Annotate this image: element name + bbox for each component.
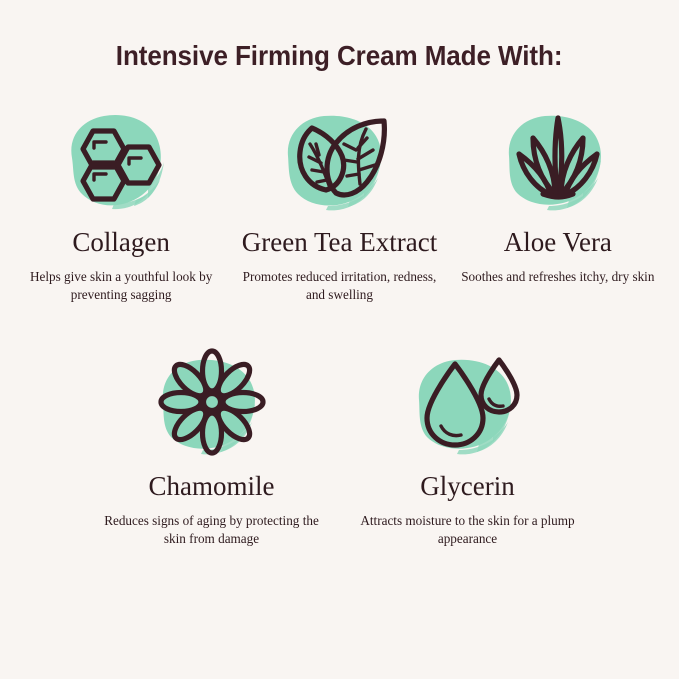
ingredient-title: Glycerin bbox=[420, 472, 514, 502]
ingredient-row-top: Collagen Helps give skin a youthful look… bbox=[0, 100, 679, 304]
ingredient-row-bottom: Chamomile Reduces signs of aging by prot… bbox=[0, 344, 679, 548]
ingredient-description: Promotes reduced irritation, redness, an… bbox=[232, 268, 447, 304]
ingredient-description: Reduces signs of aging by protecting the… bbox=[96, 512, 328, 548]
ingredient-title: Green Tea Extract bbox=[242, 228, 438, 258]
ingredient-title: Aloe Vera bbox=[504, 228, 612, 258]
ingredient-title: Chamomile bbox=[149, 472, 275, 502]
ingredient-description: Soothes and refreshes itchy, dry skin bbox=[461, 268, 654, 286]
ingredients-infographic: Intensive Firming Cream Made With: bbox=[0, 0, 679, 679]
ingredient-card-chamomile: Chamomile Reduces signs of aging by prot… bbox=[84, 344, 340, 548]
ingredient-card-glycerin: Glycerin Attracts moisture to the skin f… bbox=[340, 344, 596, 548]
ingredient-title: Collagen bbox=[72, 228, 169, 258]
honeycomb-hexagons-icon bbox=[56, 100, 186, 218]
ingredient-description: Attracts moisture to the skin for a plum… bbox=[352, 512, 584, 548]
aloe-plant-icon bbox=[493, 100, 623, 218]
title-container: Intensive Firming Cream Made With: bbox=[0, 0, 679, 72]
ingredient-card-green-tea-extract: Green Tea Extract Promotes reduced irrit… bbox=[230, 100, 448, 304]
ingredient-description: Helps give skin a youthful look by preve… bbox=[14, 268, 229, 304]
ingredient-card-aloe-vera: Aloe Vera Soothes and refreshes itchy, d… bbox=[449, 100, 667, 286]
chamomile-flower-icon bbox=[147, 344, 277, 462]
ingredient-card-collagen: Collagen Helps give skin a youthful look… bbox=[12, 100, 230, 304]
tea-leaves-icon bbox=[274, 100, 404, 218]
water-droplets-icon bbox=[403, 344, 533, 462]
page-title: Intensive Firming Cream Made With: bbox=[116, 40, 563, 72]
